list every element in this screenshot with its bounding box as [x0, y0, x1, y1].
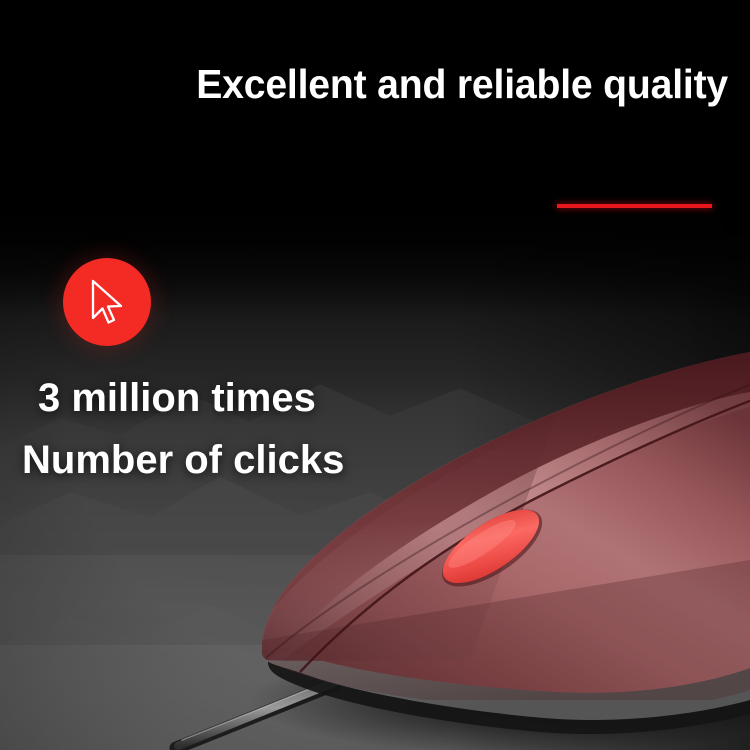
product-banner: Excellent and reliable quality 3 million…: [0, 0, 750, 750]
page-headline: Excellent and reliable quality: [33, 64, 728, 105]
accent-rule: [557, 204, 712, 208]
stat-label: Number of clicks: [22, 440, 344, 480]
mouse-cursor-arrow-icon: [87, 278, 129, 326]
stat-value: 3 million times: [38, 378, 316, 418]
cursor-badge: [63, 258, 151, 346]
background-vignette: [0, 0, 750, 750]
